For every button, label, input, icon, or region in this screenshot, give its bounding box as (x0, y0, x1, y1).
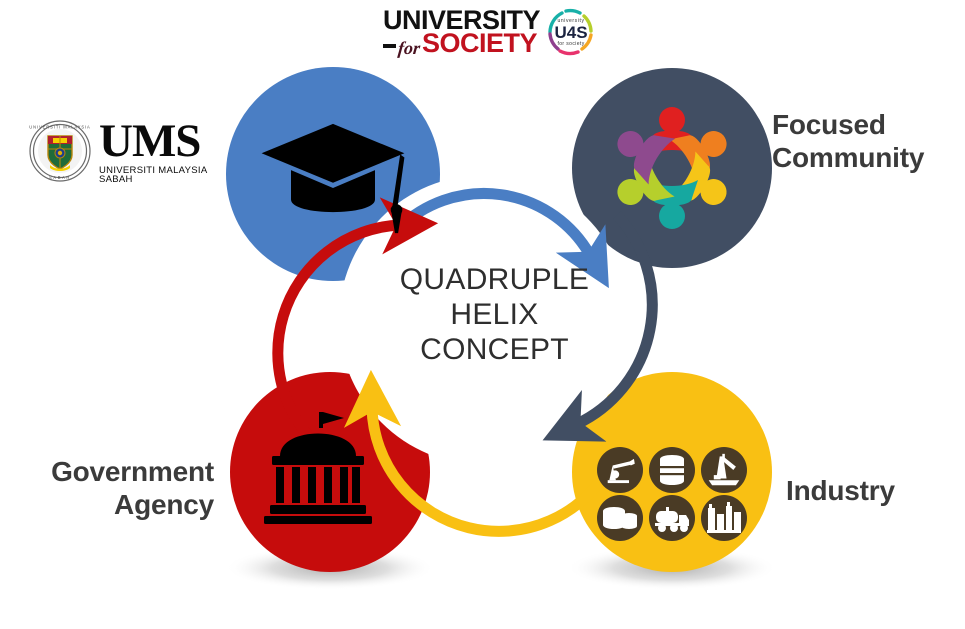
diagram-canvas: QUADRUPLE HELIX CONCEPT Focused Communit… (0, 0, 965, 629)
label-government-line2: Agency (14, 488, 214, 521)
svg-text:SABAH: SABAH (49, 175, 71, 180)
storage-tanks-icon (597, 495, 643, 541)
center-concept-text: QUADRUPLE HELIX CONCEPT (352, 262, 637, 367)
ums-full-name: UNIVERSITI MALAYSIA SABAH (99, 166, 216, 185)
center-line-3: CONCEPT (352, 332, 637, 367)
label-industry-line1: Industry (786, 474, 956, 507)
center-line-1: QUADRUPLE (352, 262, 637, 297)
u4s-wordmark: UNIVERSITY for SOCIETY (383, 9, 540, 55)
ums-text-block: UMS UNIVERSITI MALAYSIA SABAH (99, 118, 216, 185)
tanker-truck-icon (649, 495, 695, 541)
oil-pump-icon (597, 447, 643, 493)
ums-logo: UNIVERSITI MALAYSIA SABAH UMS UNIVERSITI… (28, 112, 216, 190)
label-community-line1: Focused (772, 108, 957, 141)
wordmark-dash (383, 44, 396, 48)
u4s-badge-bottom: for society (557, 41, 584, 47)
svg-text:UNIVERSITI MALAYSIA: UNIVERSITI MALAYSIA (29, 125, 90, 130)
center-line-2: HELIX (352, 297, 637, 332)
u4s-badge-main: U4S (554, 24, 587, 41)
wordmark-for: for (397, 41, 421, 56)
oil-rig-icon (701, 447, 747, 493)
label-community-line2: Community (772, 141, 957, 174)
node-circle-community[interactable] (572, 68, 772, 268)
ums-crest-icon: UNIVERSITI MALAYSIA SABAH (28, 119, 92, 183)
wordmark-society: SOCIETY (422, 32, 537, 55)
label-government-line1: Government (14, 455, 214, 488)
label-focused-community: Focused Community (772, 108, 957, 174)
label-industry: Industry (786, 474, 956, 507)
arrow-education-to-community (399, 193, 590, 255)
label-government-agency: Government Agency (14, 455, 214, 521)
ums-acronym: UMS (99, 118, 216, 165)
u4s-badge-icon: university U4S for society (544, 7, 598, 57)
refinery-icon (701, 495, 747, 541)
barrel-icon (649, 447, 695, 493)
university-for-society-lockup: UNIVERSITY for SOCIETY university (383, 6, 608, 58)
